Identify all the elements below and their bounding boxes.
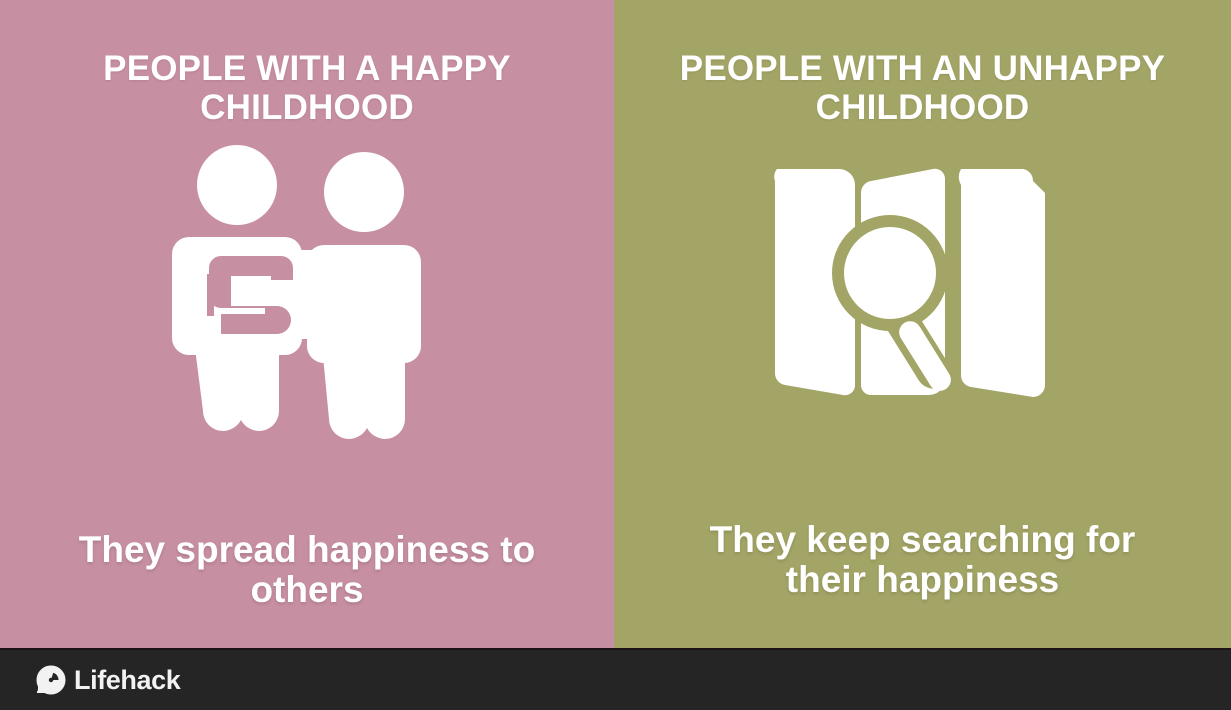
icon-wrap-unhappy: [614, 127, 1231, 520]
icon-wrap-happy: [0, 127, 614, 530]
panel-heading-happy: PEOPLE WITH A HAPPY CHILDHOOD: [68, 50, 547, 127]
panel-happy-childhood: PEOPLE WITH A HAPPY CHILDHOOD: [0, 0, 614, 648]
panel-unhappy-childhood: PEOPLE WITH AN UNHAPPY CHILDHOOD: [614, 0, 1231, 648]
footer-bar: Lifehack: [0, 648, 1231, 710]
infographic-root: PEOPLE WITH A HAPPY CHILDHOOD: [0, 0, 1231, 710]
panel-caption-unhappy: They keep searching for their happiness: [682, 520, 1163, 600]
lifehack-circle-logo-icon: [36, 665, 66, 695]
panel-caption-happy: They spread happiness to others: [25, 530, 590, 610]
lifehack-wordmark: Lifehack: [74, 665, 180, 696]
lifehack-logo[interactable]: Lifehack: [36, 665, 180, 696]
panel-heading-unhappy: PEOPLE WITH AN UNHAPPY CHILDHOOD: [651, 50, 1194, 127]
comparison-panels: PEOPLE WITH A HAPPY CHILDHOOD: [0, 0, 1231, 648]
map-with-magnifying-glass-icon: [773, 151, 1073, 426]
two-people-sharing-gift-icon: [171, 144, 439, 454]
